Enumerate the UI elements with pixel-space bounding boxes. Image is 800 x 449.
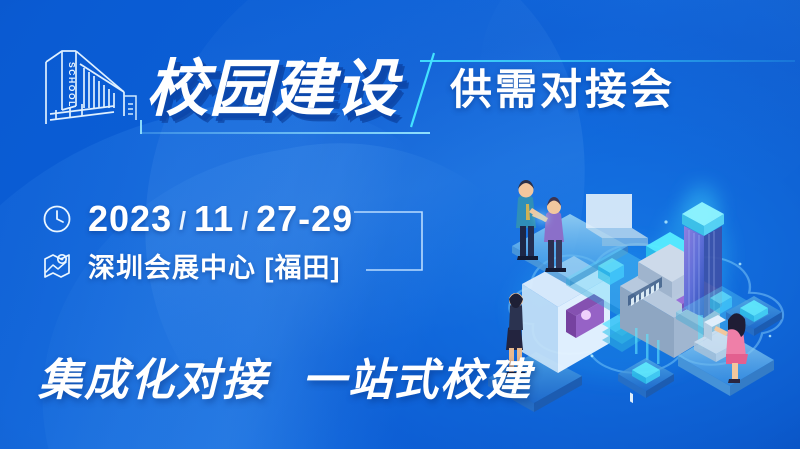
diagonal-slash-icon [408, 51, 438, 129]
bracket-line-icon [352, 208, 426, 278]
event-date-days: 27-29 [256, 198, 353, 240]
map-pin-icon [42, 250, 72, 280]
event-venue-line: 深圳会展中心 [福田] [42, 242, 353, 288]
banner-title-main: 校园建设 [146, 59, 402, 121]
school-logo-text: SCHOOL [67, 62, 77, 108]
event-date: 2023 / 11 / 27-29 [88, 198, 353, 240]
banner-slogan: 集成化对接一站式校建 [38, 344, 532, 408]
date-separator-1: / [179, 207, 187, 236]
event-info: 2023 / 11 / 27-29 深圳会展中心 [福田] [42, 196, 353, 288]
title-row: SCHOOL 校园建设 供需对接会 [36, 44, 675, 136]
event-venue: 深圳会展中心 [福田] [88, 246, 340, 285]
clock-icon [42, 204, 72, 234]
event-banner: SCHOOL 校园建设 供需对接会 2023 / 11 / [0, 0, 800, 449]
slogan-part-1: 集成化对接 [38, 356, 268, 405]
event-date-year: 2023 [88, 198, 172, 240]
slogan-part-2: 一站式校建 [302, 356, 532, 405]
date-separator-2: / [241, 207, 249, 236]
banner-title-sub: 供需对接会 [450, 69, 675, 111]
event-date-month: 11 [194, 198, 234, 240]
school-building-icon: SCHOOL [36, 44, 140, 136]
event-date-line: 2023 / 11 / 27-29 [42, 196, 353, 242]
